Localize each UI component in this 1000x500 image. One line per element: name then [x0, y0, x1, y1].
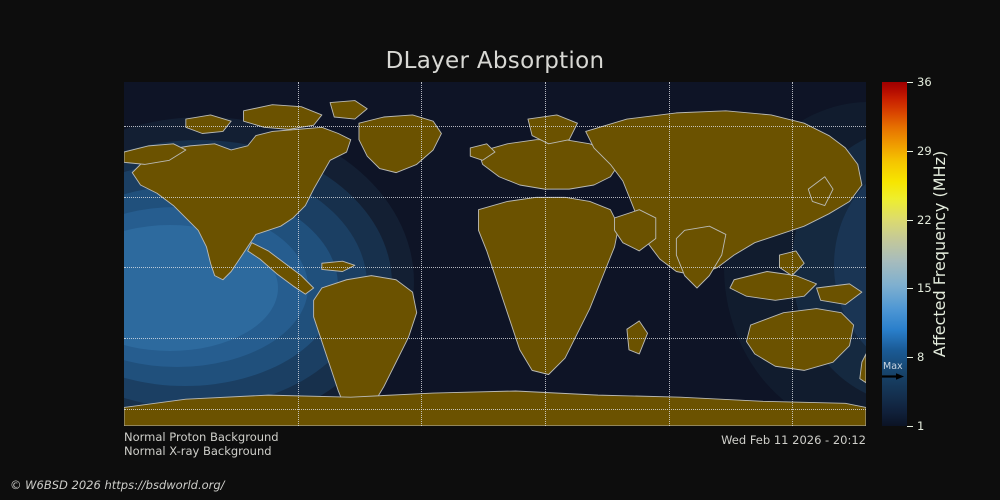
timestamp: Wed Feb 11 2026 - 20:12: [721, 433, 866, 447]
colorbar-label-8: 8: [917, 350, 924, 364]
landmass-greenland: [359, 115, 441, 173]
xray-status-note: Normal X-ray Background: [124, 444, 272, 458]
colorbar-axis-label: Affected Frequency (MHz): [930, 0, 952, 82]
colorbar-tick-29: [907, 151, 913, 152]
colorbar-label-1: 1: [917, 419, 924, 433]
colorbar-gradient: [882, 82, 907, 426]
dlayer-absorption-figure: DLayer Absorption: [0, 0, 1000, 500]
landmass-africa: [479, 197, 619, 374]
landmass-new-zealand: [860, 354, 866, 383]
copyright-footer: © W6BSD 2026 https://bsdworld.org/: [10, 478, 225, 492]
proton-status-note: Normal Proton Background: [124, 430, 279, 444]
landmass-antarctica: [124, 391, 866, 426]
colorbar-tick-22: [907, 220, 913, 221]
coastline-layer: [124, 82, 866, 426]
landmass-caribbean: [322, 261, 355, 271]
colorbar[interactable]: 36 29 22 15 8 1: [882, 82, 907, 426]
colorbar-tick-36: [907, 82, 913, 83]
landmass-new-guinea: [817, 284, 862, 305]
landmass-india: [676, 226, 725, 288]
colorbar-axis-label-text: Affected Frequency (MHz): [930, 82, 949, 426]
world-map[interactable]: [124, 82, 866, 426]
landmass-arctic-island-a: [186, 115, 231, 134]
colorbar-tick-1: [907, 426, 913, 427]
landmass-canadian-arctic: [244, 105, 322, 130]
landmass-madagascar: [627, 321, 648, 354]
landmass-australia: [746, 309, 853, 371]
colorbar-tick-15: [907, 288, 913, 289]
colorbar-tick-8: [907, 357, 913, 358]
landmass-philippines: [779, 251, 804, 276]
landmass-arctic-island-b: [330, 101, 367, 120]
landmass-indonesia: [730, 272, 817, 301]
page-title: DLayer Absorption: [0, 48, 990, 74]
landmass-central-america: [248, 243, 314, 294]
